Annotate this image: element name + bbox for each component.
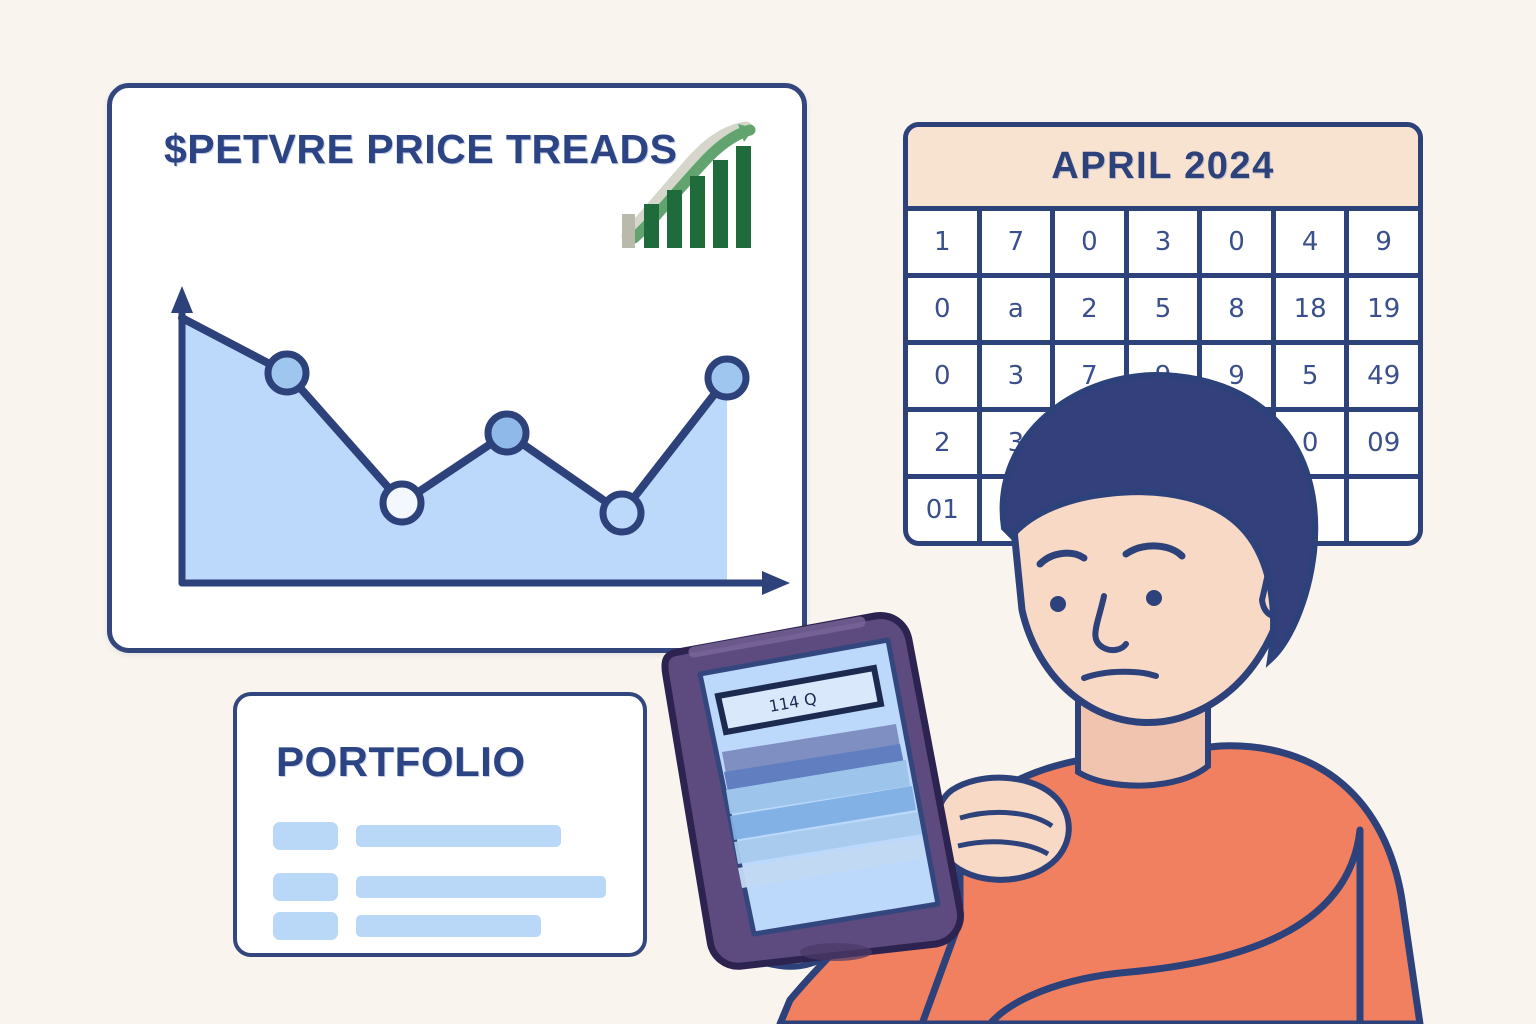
list-item xyxy=(273,873,606,901)
calendar-day-cell[interactable]: 2 xyxy=(1055,278,1124,340)
calendar-day-cell[interactable]: 18 xyxy=(1276,278,1345,340)
tablet-device[interactable]: 114 Q xyxy=(660,600,990,970)
illustration-scene: $PETVRE PRICE TREADS xyxy=(0,0,1536,1024)
calendar-month-title: APRIL 2024 xyxy=(1051,145,1274,188)
calendar-day-cell[interactable]: 0 xyxy=(908,278,977,340)
calendar-day-cell[interactable]: 4 xyxy=(1276,211,1345,273)
calendar-day-cell[interactable]: 9 xyxy=(1349,211,1418,273)
data-point xyxy=(488,414,526,452)
portfolio-chip xyxy=(273,822,338,850)
portfolio-bar xyxy=(356,915,541,937)
portfolio-card: PORTFOLIO xyxy=(233,692,647,957)
tablet-home-button xyxy=(800,943,872,961)
calendar-day-cell[interactable]: 19 xyxy=(1349,278,1418,340)
calendar-day-cell[interactable]: a xyxy=(982,278,1051,340)
y-axis-arrow xyxy=(171,286,193,313)
data-point xyxy=(383,484,421,522)
calendar-day-cell[interactable]: 1 xyxy=(908,211,977,273)
calendar-day-cell[interactable]: 7 xyxy=(982,211,1051,273)
calendar-day-cell[interactable]: 0 xyxy=(1202,211,1271,273)
calendar-header: APRIL 2024 xyxy=(908,127,1418,211)
portfolio-bar xyxy=(356,876,606,898)
data-point xyxy=(603,494,641,532)
list-item xyxy=(273,822,561,850)
portfolio-chip xyxy=(273,873,338,901)
portfolio-title: PORTFOLIO xyxy=(276,738,526,786)
calendar-day-cell[interactable]: 5 xyxy=(1129,278,1198,340)
list-item xyxy=(273,912,541,940)
eye-right xyxy=(1146,590,1162,606)
calendar-day-cell[interactable]: 8 xyxy=(1202,278,1271,340)
calendar-day-cell[interactable]: 3 xyxy=(1129,211,1198,273)
data-point xyxy=(268,354,306,392)
portfolio-bar xyxy=(356,825,561,847)
portfolio-chip xyxy=(273,912,338,940)
eye-left xyxy=(1050,596,1066,612)
calendar-day-cell[interactable]: 0 xyxy=(1055,211,1124,273)
